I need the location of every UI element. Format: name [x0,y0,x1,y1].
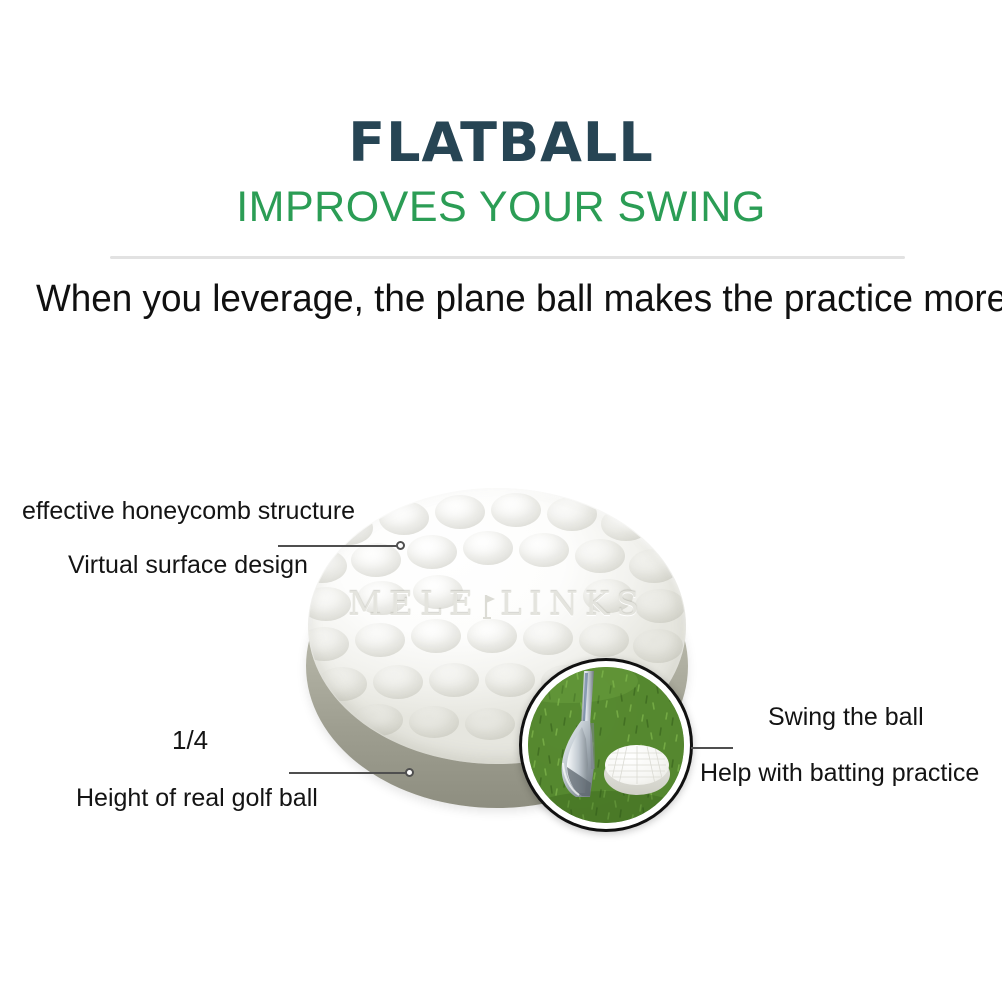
annotation-swing-the-ball: Swing the ball [768,704,924,732]
brand-text-right: LINKS [500,584,646,623]
annotation-virtual-surface-design: Virtual surface design [68,552,308,580]
product-infographic: FLATBALL IMPROVES YOUR SWING When you le… [0,0,1002,1002]
tagline-text: When you leverage, the plane ball makes … [36,278,948,322]
annotation-fraction: 1/4 [172,726,208,755]
page-subtitle: IMPROVES YOUR SWING [0,186,1002,229]
leader-dot-bottom [405,768,414,777]
inset-photo-circle [519,658,693,832]
brand-emboss: MELE LINKS [308,584,686,623]
leader-line-top [278,545,400,547]
annotation-honeycomb-structure: effective honeycomb structure [22,498,355,526]
golf-flag-icon [482,588,498,614]
annotation-height-of-real-golf-ball: Height of real golf ball [76,785,318,813]
golf-club-head-icon [554,671,610,803]
header-divider [110,256,905,259]
leader-line-right [691,747,733,749]
inset-ball-face [605,745,669,785]
inset-flat-ball [604,745,670,797]
leader-dot-top [396,541,405,550]
page-title: FLATBALL [0,116,1002,170]
leader-line-bottom [289,772,409,774]
inset-ball-dimples [605,745,669,785]
brand-text-left: MELE [348,584,480,623]
inset-photo-content [528,667,684,823]
annotation-batting-practice: Help with batting practice [700,760,979,788]
